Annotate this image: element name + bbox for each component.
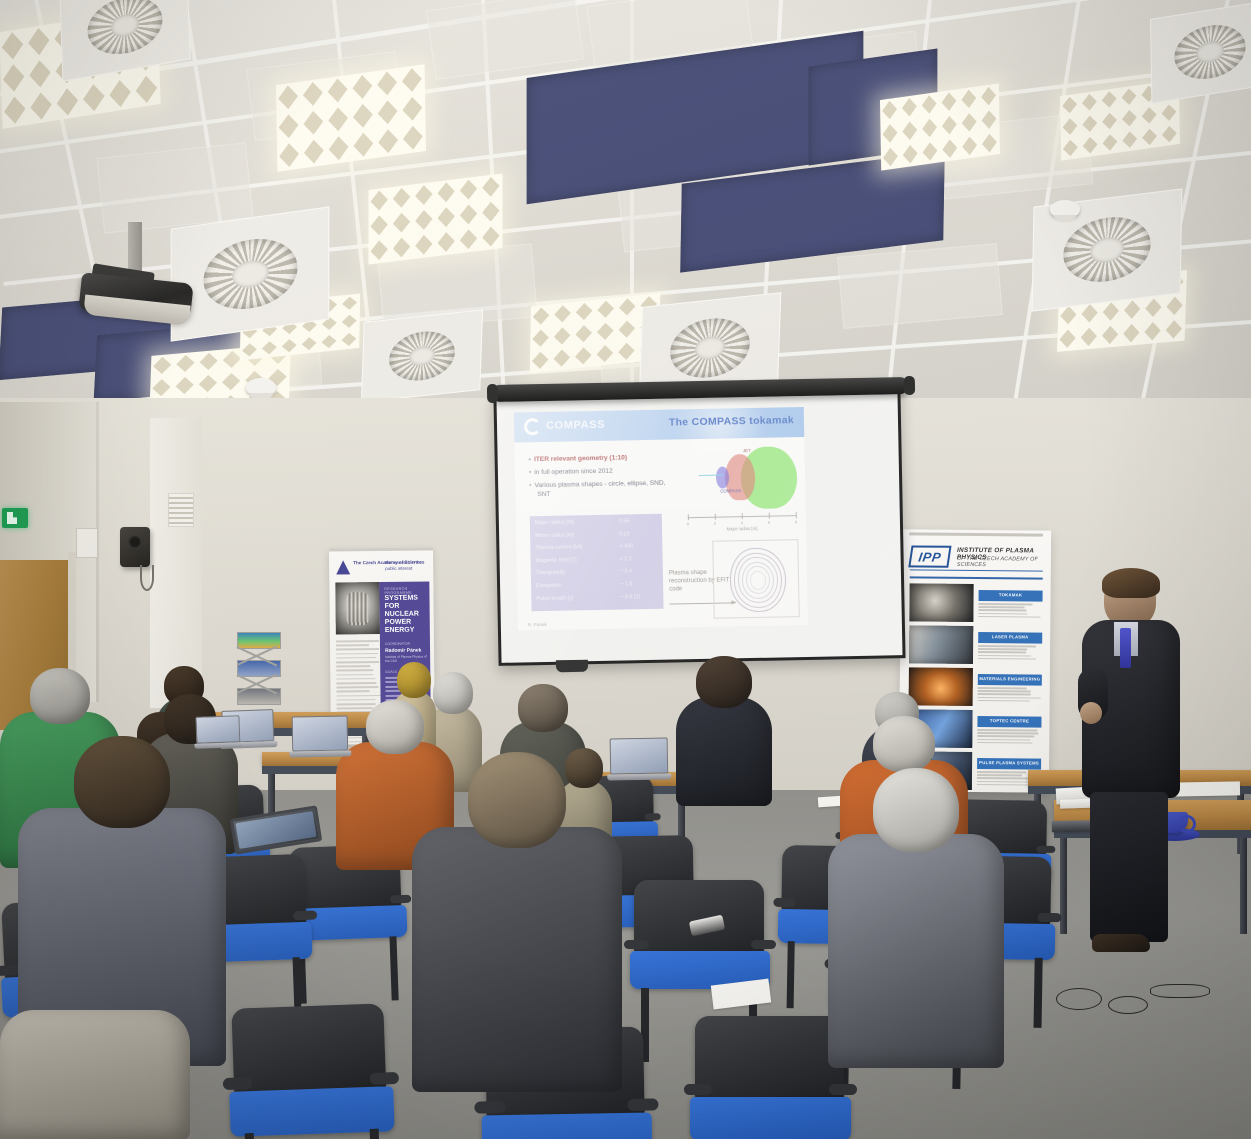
jet-shape-label: JET — [743, 448, 751, 453]
person-head — [397, 662, 431, 698]
conference-room-photo: COMPASS The COMPASS tokamak •ITER releva… — [0, 0, 1251, 1139]
chair-seat — [690, 1097, 851, 1139]
laptop-screen — [292, 716, 349, 752]
person-head — [873, 716, 935, 772]
chair-seat — [482, 1112, 652, 1139]
person-head — [30, 668, 90, 724]
person-torso — [676, 697, 772, 806]
cas-body-text-line — [336, 674, 373, 676]
chair-armrest — [624, 940, 649, 950]
audience-member-dark-suit — [676, 656, 772, 806]
compass-plasma-shape — [716, 466, 729, 488]
person-torso — [412, 827, 622, 1092]
ipp-section: MATERIALS ENGINEERING — [978, 674, 1042, 703]
ipp-logo-icon: IPP — [908, 545, 951, 567]
chair-armrest — [645, 814, 661, 820]
cas-body-text-line — [336, 686, 378, 688]
chair-backrest — [231, 1003, 386, 1098]
axis-tick-label: 0 — [687, 521, 689, 526]
ipp-section-body — [977, 729, 1041, 744]
person-head — [518, 684, 568, 732]
person-torso — [0, 1010, 190, 1139]
ipp-section-heading: LASER PLASMA — [978, 632, 1042, 644]
presenter-tie — [1120, 628, 1131, 668]
ventilation-grille-icon — [168, 493, 194, 527]
chair-armrest — [1036, 845, 1055, 853]
spec-parameter: Pulse length [s] — [536, 595, 573, 602]
chair-leg — [787, 941, 795, 1008]
exit-sign-icon — [2, 508, 28, 528]
spec-parameter: Plasma current [kA] — [535, 544, 582, 551]
person-head — [366, 700, 424, 754]
ipp-section: LASER PLASMA — [978, 632, 1042, 661]
person-torso — [828, 834, 1004, 1068]
cas-body-text-line — [336, 678, 375, 680]
slide-spec-table: Major radius [m]0.56Minor radius [m]0.23… — [530, 514, 664, 612]
cas-coordinator-name: Radomír Pánek — [385, 648, 421, 654]
cas-tokamak-photo — [335, 582, 380, 634]
rack-scissor-link — [237, 646, 281, 666]
chair-leg — [390, 936, 399, 1000]
chair-armrest — [293, 911, 317, 921]
cas-body-text-line — [336, 644, 369, 646]
ceiling-tile — [426, 0, 584, 80]
wall-column — [150, 418, 202, 708]
screen-pull-tab[interactable] — [556, 660, 588, 673]
plasma-shape-comparison: JET COMPASS — [678, 443, 799, 511]
ipp-section-body — [978, 687, 1042, 702]
presenter-hand — [1080, 702, 1102, 724]
presenter — [1068, 572, 1186, 972]
compass-logo-icon — [524, 418, 541, 435]
spec-table-row: Pulse length [s]~ 0.6 (1) — [536, 593, 660, 607]
chair-armrest — [222, 1078, 251, 1090]
slide-bullet-3: •Various plasma shapes - circle, ellipse… — [529, 480, 665, 490]
chair-armrest — [829, 1084, 858, 1095]
brochure-display-rack[interactable] — [237, 632, 281, 706]
slide-bullet-1: •ITER relevant geometry (1:10) — [529, 454, 628, 463]
ipp-section: TOKAMAK — [978, 590, 1042, 619]
ipp-title-line2: OF THE CZECH ACADEMY OF SCIENCES — [957, 556, 1051, 569]
cas-logo-icon — [336, 560, 350, 574]
spec-value: ~ 0.6 (1) — [620, 594, 640, 600]
floor-cable — [1150, 984, 1210, 998]
spec-value: ~ 0.4 — [620, 569, 632, 575]
cas-body-text-line — [336, 653, 378, 655]
ipp-section-body — [978, 603, 1042, 618]
cas-body-text-line — [336, 682, 376, 684]
ipp-section-photo — [909, 583, 973, 622]
axis-tick-label: 2 — [714, 521, 716, 526]
floor-cable — [1056, 988, 1102, 1010]
table-leg — [1060, 838, 1067, 934]
audience-member-grey-front-right — [828, 768, 1004, 1068]
slide-bullet-2: •in full operation since 2012 — [529, 468, 613, 477]
chair-leg — [1034, 958, 1042, 1028]
cas-coordinator-label: COORDINATOR — [385, 642, 410, 646]
cas-body-text-line — [336, 657, 376, 659]
chair-backrest — [695, 1016, 845, 1104]
compass-shape-label: COMPASS — [720, 488, 741, 493]
projection-screen: COMPASS The COMPASS tokamak •ITER releva… — [493, 388, 905, 666]
presenter-shoe — [1092, 934, 1150, 952]
axis-title: Major radius [m] — [727, 526, 758, 532]
cas-tagline: For research in the public interest — [385, 560, 427, 571]
spec-parameter: Elongation — [536, 583, 562, 589]
wall-speaker-icon — [120, 527, 150, 567]
laptop-back-left-2[interactable] — [292, 716, 349, 762]
chair-armrest — [684, 1084, 713, 1095]
table-leg — [1240, 838, 1247, 934]
spec-parameter: Triangularity — [536, 570, 566, 577]
jet-plasma-shape — [725, 454, 756, 501]
slide-header: COMPASS The COMPASS tokamak — [514, 407, 805, 443]
spec-value: 0.56 — [619, 518, 630, 524]
projected-slide: COMPASS The COMPASS tokamak •ITER releva… — [514, 407, 808, 631]
chair-armrest — [370, 1072, 399, 1084]
axis-tick — [688, 514, 689, 520]
chair-armrest — [628, 1098, 658, 1110]
smoke-detector-icon — [246, 378, 276, 396]
person-head — [74, 736, 170, 828]
slide-bullet-3-cont: SNT — [537, 491, 550, 498]
ipp-section-body — [978, 645, 1042, 660]
chair-armrest — [751, 940, 776, 950]
wall-box — [76, 528, 98, 558]
cas-body-text-line — [336, 661, 379, 663]
chair-armrest — [1038, 913, 1062, 922]
audience-member-front-left-partial — [0, 1010, 190, 1139]
spec-value: 0.23 — [619, 531, 630, 537]
cas-body-text-line — [337, 695, 381, 697]
spec-parameter: Minor radius [m] — [535, 532, 574, 539]
slide-logo-text: COMPASS — [546, 419, 605, 432]
axis-tick-label: 4 — [741, 520, 743, 525]
person-head — [468, 752, 566, 848]
speaker-cable — [140, 565, 154, 591]
rack-scissor-link — [237, 674, 281, 694]
cas-body-text-line — [336, 691, 369, 693]
ceiling-tile — [837, 243, 1003, 329]
presenter-hair — [1102, 568, 1160, 598]
chair-armrest — [773, 898, 796, 907]
cas-body-text-line — [336, 665, 370, 667]
ipp-section-heading: TOKAMAK — [979, 590, 1043, 602]
smoke-detector-icon — [1050, 200, 1080, 218]
floor-cable — [1108, 996, 1148, 1014]
axis-tick — [769, 513, 770, 519]
audience-member-grey-suit-front — [412, 752, 622, 1092]
chair-armrest — [390, 895, 412, 904]
person-head — [696, 656, 752, 708]
person-head — [873, 768, 959, 852]
laptop-base — [289, 750, 351, 757]
ipp-section: TOPTEC CENTRE — [977, 716, 1041, 745]
spec-value: < 2.1 — [620, 556, 632, 562]
ipp-section-heading: TOPTEC CENTRE — [977, 716, 1041, 728]
presenter-trousers — [1090, 792, 1168, 942]
slide-title: The COMPASS tokamak — [669, 414, 794, 428]
spec-value: < 400 — [619, 543, 633, 549]
cas-programme-title: SYSTEMS FOR NUCLEAR POWER ENERGY — [384, 595, 428, 636]
cas-body-text-line — [336, 640, 379, 642]
cas-body-text-line — [336, 669, 373, 671]
spec-parameter: Magnetic field [T] — [536, 557, 577, 564]
ipp-section-heading: MATERIALS ENGINEERING — [978, 674, 1042, 686]
efit-flux-plot — [712, 539, 799, 619]
cas-body-text-line — [336, 648, 379, 650]
spec-parameter: Major radius [m] — [535, 519, 574, 526]
major-radius-axis: Major radius [m] 02468 — [688, 511, 796, 535]
chair-armrest — [475, 1101, 505, 1113]
suspended-ceiling — [0, 0, 1251, 420]
flux-contour — [750, 570, 766, 589]
axis-tick — [742, 513, 743, 519]
slide-footer: R. Pánek — [528, 622, 547, 627]
axis-tick-label: 8 — [795, 519, 797, 524]
ipp-section-photo — [909, 625, 973, 664]
axis-tick — [796, 512, 797, 518]
axis-tick-label: 6 — [768, 520, 770, 525]
axis-tick — [715, 514, 716, 520]
chair-row1-b[interactable] — [224, 1003, 399, 1139]
spec-value: ~ 1.8 — [620, 581, 632, 587]
